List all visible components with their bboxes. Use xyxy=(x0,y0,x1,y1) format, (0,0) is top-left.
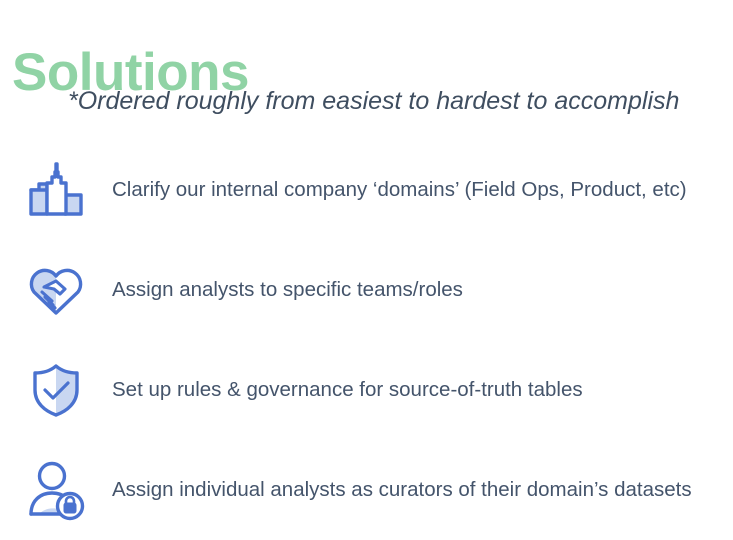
list-item: Clarify our internal company ‘domains’ (… xyxy=(0,140,733,240)
heart-handshake-icon xyxy=(0,254,112,326)
shield-check-icon xyxy=(0,354,112,426)
solutions-list: Clarify our internal company ‘domains’ (… xyxy=(0,140,733,540)
list-item-label: Assign individual analysts as curators o… xyxy=(112,476,692,504)
city-buildings-icon xyxy=(0,154,112,226)
list-item-label: Assign analysts to specific teams/roles xyxy=(112,276,463,304)
list-item: Set up rules & governance for source-of-… xyxy=(0,340,733,440)
list-item: Assign analysts to specific teams/roles xyxy=(0,240,733,340)
list-item-label: Clarify our internal company ‘domains’ (… xyxy=(112,176,687,204)
page-subtitle: *Ordered roughly from easiest to hardest… xyxy=(68,84,679,118)
user-lock-icon xyxy=(0,454,112,526)
list-item: Assign individual analysts as curators o… xyxy=(0,440,733,540)
list-item-label: Set up rules & governance for source-of-… xyxy=(112,376,583,404)
